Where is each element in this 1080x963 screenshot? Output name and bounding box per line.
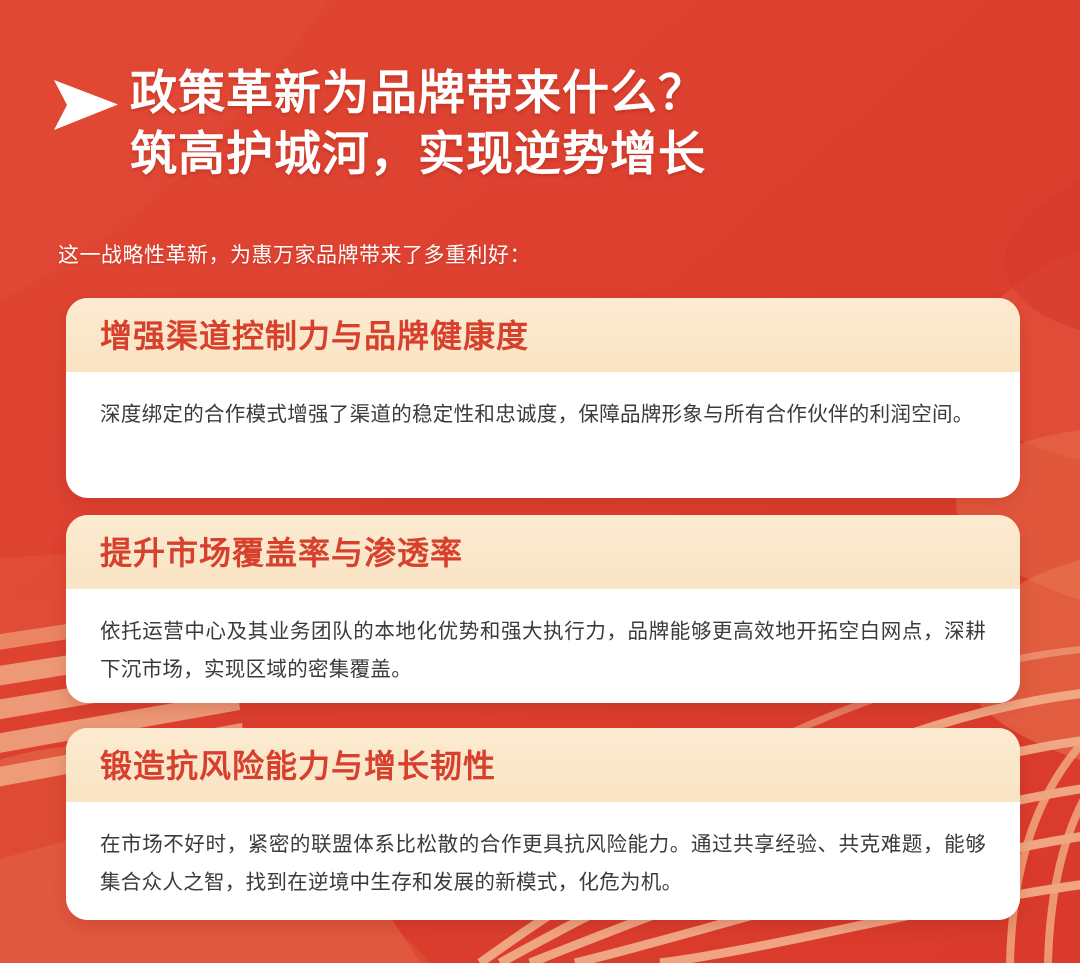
benefit-card: 锻造抗风险能力与增长韧性 在市场不好时，紧密的联盟体系比松散的合作更具抗风险能力… (66, 728, 1020, 920)
benefit-card-header: 提升市场覆盖率与渗透率 (66, 515, 1020, 589)
benefit-card: 增强渠道控制力与品牌健康度 深度绑定的合作模式增强了渠道的稳定性和忠诚度，保障品… (66, 298, 1020, 498)
page-subtitle: 这一战略性革新，为惠万家品牌带来了多重利好： (58, 240, 531, 272)
benefit-card-body: 在市场不好时，紧密的联盟体系比松散的合作更具抗风险能力。通过共享经验、共克难题，… (66, 802, 1020, 920)
benefit-card-header: 锻造抗风险能力与增长韧性 (66, 728, 1020, 802)
heading-line-1: 政策革新为品牌带来什么？ (130, 62, 706, 123)
benefit-card: 提升市场覆盖率与渗透率 依托运营中心及其业务团队的本地化优势和强大执行力，品牌能… (66, 515, 1020, 703)
play-arrow-icon (50, 62, 130, 137)
benefit-card-title: 提升市场覆盖率与渗透率 (100, 534, 986, 572)
benefit-card-text: 深度绑定的合作模式增强了渠道的稳定性和忠诚度，保障品牌形象与所有合作伙伴的利润空… (100, 396, 986, 434)
benefit-card-title: 增强渠道控制力与品牌健康度 (100, 317, 986, 355)
benefit-card-body: 深度绑定的合作模式增强了渠道的稳定性和忠诚度，保障品牌形象与所有合作伙伴的利润空… (66, 372, 1020, 458)
benefit-card-body: 依托运营中心及其业务团队的本地化优势和强大执行力，品牌能够更高效地开拓空白网点，… (66, 589, 1020, 703)
benefit-card-title: 锻造抗风险能力与增长韧性 (100, 747, 986, 785)
page-content: 政策革新为品牌带来什么？ 筑高护城河，实现逆势增长 这一战略性革新，为惠万家品牌… (0, 0, 1080, 963)
benefit-card-header: 增强渠道控制力与品牌健康度 (66, 298, 1020, 372)
heading-text-block: 政策革新为品牌带来什么？ 筑高护城河，实现逆势增长 (130, 62, 706, 184)
benefit-card-text: 依托运营中心及其业务团队的本地化优势和强大执行力，品牌能够更高效地开拓空白网点，… (100, 613, 986, 689)
heading-line-2: 筑高护城河，实现逆势增长 (130, 123, 706, 184)
benefit-card-text: 在市场不好时，紧密的联盟体系比松散的合作更具抗风险能力。通过共享经验、共克难题，… (100, 826, 986, 902)
page-heading: 政策革新为品牌带来什么？ 筑高护城河，实现逆势增长 (0, 62, 1080, 184)
